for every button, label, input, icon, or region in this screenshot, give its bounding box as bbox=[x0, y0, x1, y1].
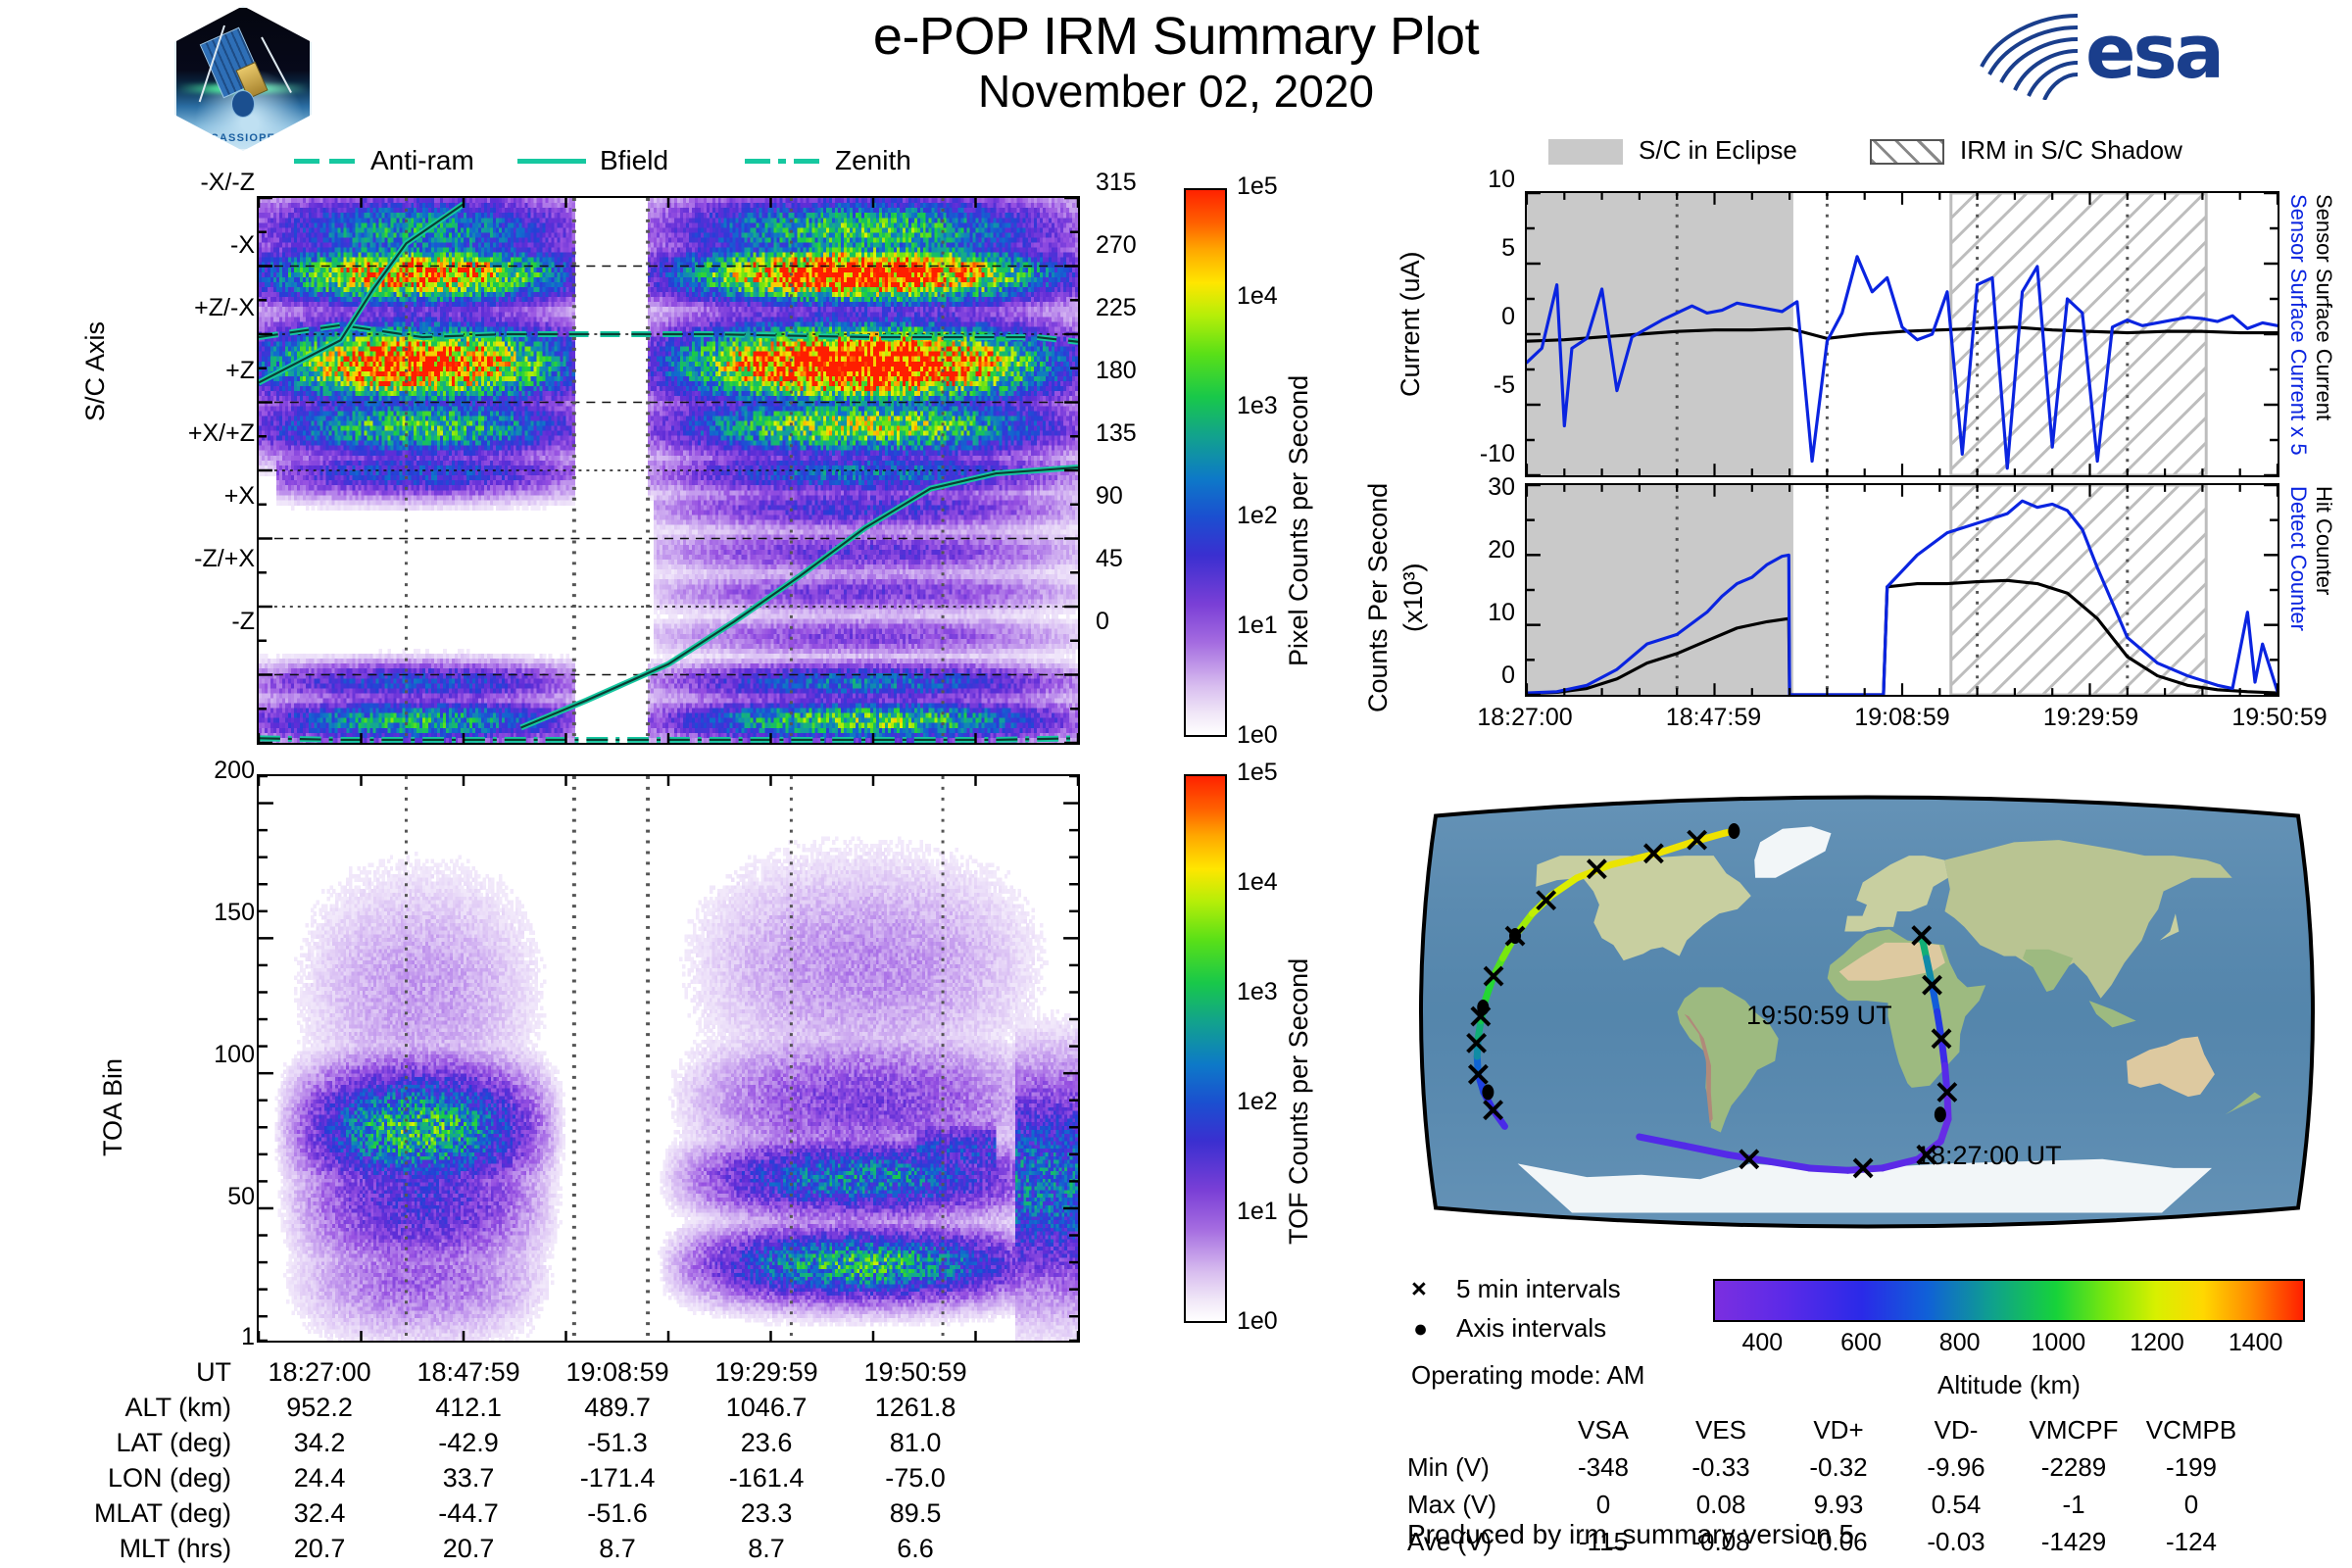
cb1-tick-1: 1e4 bbox=[1237, 282, 1278, 311]
voltage-cell: -1 bbox=[2015, 1486, 2132, 1523]
voltage-cell: 9.93 bbox=[1780, 1486, 1897, 1523]
sc-axis-tick-6: -Z/+X bbox=[194, 545, 255, 573]
map-start-time-label: 18:27:00 UT bbox=[1916, 1141, 2062, 1171]
toa-tick-4: 1 bbox=[241, 1323, 255, 1351]
time-tick-1: 18:47:59 bbox=[1666, 704, 1761, 732]
eph-cell: 23.3 bbox=[692, 1495, 841, 1531]
angle-tick-6: 45 bbox=[1096, 545, 1123, 573]
counts-plot bbox=[1527, 485, 2278, 695]
eph-row-label: UT bbox=[94, 1354, 245, 1390]
cb2-tick-3: 1e2 bbox=[1237, 1088, 1278, 1116]
voltage-cell: 0.08 bbox=[1662, 1486, 1780, 1523]
eph-cell: 8.7 bbox=[692, 1531, 841, 1566]
map-legend-label-axis: Axis intervals bbox=[1456, 1313, 1606, 1344]
table-row: Min (V)-348-0.33-0.32-9.96-2289-199 bbox=[1407, 1448, 2250, 1486]
cb2-tick-0: 1e5 bbox=[1237, 759, 1278, 787]
altitude-tick-0: 400 bbox=[1741, 1329, 1783, 1357]
eph-cell: 19:50:59 bbox=[841, 1354, 990, 1390]
voltage-header-row: VSAVESVD+VD-VMCPFVCMPB bbox=[1407, 1411, 2250, 1448]
voltage-col-header: VMCPF bbox=[2015, 1411, 2132, 1448]
legend-label-bfield: Bfield bbox=[600, 145, 668, 176]
legend-zenith-dash-2 bbox=[794, 159, 819, 164]
cur-tick-2: 0 bbox=[1501, 303, 1515, 331]
eph-cell: 18:27:00 bbox=[245, 1354, 394, 1390]
eph-row-label: ALT (km) bbox=[94, 1390, 245, 1425]
dot-marker-icon: ● bbox=[1413, 1315, 1428, 1344]
legend-bfield-line bbox=[517, 159, 586, 164]
current-plot bbox=[1527, 193, 2278, 475]
voltage-col-header: VD+ bbox=[1780, 1411, 1897, 1448]
eph-cell: 33.7 bbox=[394, 1460, 543, 1495]
cnt-tick-3: 0 bbox=[1501, 661, 1515, 690]
sc-axis-tick-5: +X bbox=[224, 482, 255, 511]
sc-axis-tick-3: +Z bbox=[225, 357, 255, 385]
table-row: UT18:27:0018:47:5919:08:5919:29:5919:50:… bbox=[94, 1354, 990, 1390]
pixel-counts-colorbar bbox=[1184, 188, 1227, 737]
altitude-colorbar-label: Altitude (km) bbox=[1713, 1370, 2305, 1400]
current-y2label-blue: Sensor Surface Current x 5 bbox=[2285, 194, 2311, 474]
eph-cell: 19:29:59 bbox=[692, 1354, 841, 1390]
cb2-tick-2: 1e3 bbox=[1237, 978, 1278, 1006]
eph-row-label: MLT (hrs) bbox=[94, 1531, 245, 1566]
cb1-tick-2: 1e3 bbox=[1237, 392, 1278, 420]
toa-spectrogram-image bbox=[259, 776, 1078, 1341]
angle-tick-5: 90 bbox=[1096, 482, 1123, 511]
altitude-tick-4: 1200 bbox=[2130, 1329, 2184, 1357]
csa-badge-icon bbox=[231, 90, 255, 118]
legend-zenith-dash bbox=[745, 159, 770, 164]
eclipse-legend-label: S/C in Eclipse bbox=[1639, 135, 1797, 166]
voltage-cell: -124 bbox=[2132, 1523, 2250, 1560]
shadow-legend: S/C in Eclipse IRM in S/C Shadow bbox=[1548, 137, 2352, 171]
voltage-col-header: VSA bbox=[1544, 1411, 1662, 1448]
sc-axis-tick-7: -Z bbox=[231, 608, 255, 636]
angle-tick-7: 0 bbox=[1096, 608, 1109, 636]
eph-cell: 18:47:59 bbox=[394, 1354, 543, 1390]
table-row: LAT (deg)34.2-42.9-51.323.681.0 bbox=[94, 1425, 990, 1460]
cur-tick-0: 10 bbox=[1488, 166, 1515, 194]
table-row: ALT (km)952.2412.1489.71046.71261.8 bbox=[94, 1390, 990, 1425]
eph-cell: -75.0 bbox=[841, 1460, 990, 1495]
eph-cell: 1046.7 bbox=[692, 1390, 841, 1425]
tof-counts-colorbar bbox=[1184, 774, 1227, 1323]
eph-cell: 489.7 bbox=[543, 1390, 692, 1425]
toa-y-ticklabels: 200 150 100 50 1 bbox=[137, 774, 255, 1333]
counts-ylabel: Counts Per Second (x10³) bbox=[1360, 475, 1396, 720]
eph-cell: 20.7 bbox=[394, 1531, 543, 1566]
eph-cell: 89.5 bbox=[841, 1495, 990, 1531]
sc-axis-tick-0: -X/-Z bbox=[200, 169, 255, 197]
map-end-time-label: 19:50:59 UT bbox=[1746, 1001, 1892, 1031]
voltage-col-header: VD- bbox=[1897, 1411, 2015, 1448]
current-y-ticklabels: 10 5 0 -5 -10 bbox=[1431, 181, 1515, 465]
pixel-counts-colorbar-label: Pixel Counts per Second bbox=[1284, 196, 1314, 666]
time-tick-2: 19:08:59 bbox=[1854, 704, 1949, 732]
current-y2label-black: Sensor Surface Current bbox=[2311, 194, 2336, 474]
toa-tick-0: 200 bbox=[214, 757, 255, 785]
spectrogram-panel[interactable] bbox=[257, 196, 1080, 745]
voltage-cell: -0.03 bbox=[1897, 1523, 2015, 1560]
cb1-tick-4: 1e1 bbox=[1237, 612, 1278, 640]
counts-panel[interactable] bbox=[1525, 483, 2279, 697]
eph-cell: 32.4 bbox=[245, 1495, 394, 1531]
angle-tick-3: 180 bbox=[1096, 357, 1137, 385]
time-tick-0: 18:27:00 bbox=[1477, 704, 1572, 732]
shadow-hatch-swatch-icon bbox=[1870, 139, 1944, 165]
eph-cell: -161.4 bbox=[692, 1460, 841, 1495]
cb2-tick-4: 1e1 bbox=[1237, 1198, 1278, 1226]
legend-antiram-dash-2 bbox=[329, 159, 355, 164]
voltage-cell: -9.96 bbox=[1897, 1448, 2015, 1486]
eph-cell: 19:08:59 bbox=[543, 1354, 692, 1390]
altitude-colorbar bbox=[1713, 1279, 2305, 1322]
cassiope-logo-label: CASSIOPE bbox=[176, 132, 310, 144]
voltage-col-header: VCMPB bbox=[2132, 1411, 2250, 1448]
voltage-cell: -2289 bbox=[2015, 1448, 2132, 1486]
spectrogram-y-ticklabels: -X/-Z -X +Z/-X +Z +X/+Z +X -Z/+X -Z bbox=[127, 186, 255, 715]
eph-cell: 8.7 bbox=[543, 1531, 692, 1566]
voltage-cell: -0.32 bbox=[1780, 1448, 1897, 1486]
cur-tick-4: -10 bbox=[1480, 440, 1515, 468]
cur-tick-3: -5 bbox=[1494, 371, 1515, 400]
angle-tick-2: 225 bbox=[1096, 294, 1137, 322]
altitude-colorbar-ticks: 400600800100012001400 bbox=[1713, 1329, 2305, 1362]
table-row: MLT (hrs)20.720.78.78.76.6 bbox=[94, 1531, 990, 1566]
angle-tick-0: 315 bbox=[1096, 169, 1137, 197]
eph-cell: -51.3 bbox=[543, 1425, 692, 1460]
altitude-tick-1: 600 bbox=[1840, 1329, 1882, 1357]
sc-axis-tick-1: -X bbox=[230, 231, 255, 260]
altitude-tick-5: 1400 bbox=[2229, 1329, 2283, 1357]
eph-cell: -44.7 bbox=[394, 1495, 543, 1531]
legend-zenith-dot bbox=[778, 159, 786, 164]
spectrogram-ylabel: S/C Axis bbox=[80, 245, 111, 421]
eph-cell: 1261.8 bbox=[841, 1390, 990, 1425]
eph-row-label: LAT (deg) bbox=[94, 1425, 245, 1460]
cnt-tick-2: 10 bbox=[1488, 599, 1515, 627]
legend-antiram-dash-1 bbox=[294, 159, 319, 164]
voltage-cell: -0.33 bbox=[1662, 1448, 1780, 1486]
eph-cell: 20.7 bbox=[245, 1531, 394, 1566]
eph-row-label: MLAT (deg) bbox=[94, 1495, 245, 1531]
voltage-cell: 0 bbox=[1544, 1486, 1662, 1523]
toa-tick-3: 50 bbox=[227, 1183, 255, 1211]
cb1-tick-0: 1e5 bbox=[1237, 172, 1278, 201]
voltage-col-header: VES bbox=[1662, 1411, 1780, 1448]
toa-tick-2: 100 bbox=[214, 1041, 255, 1069]
cb1-tick-5: 1e0 bbox=[1237, 721, 1278, 750]
eph-cell: 412.1 bbox=[394, 1390, 543, 1425]
eph-cell: 23.6 bbox=[692, 1425, 841, 1460]
sc-axis-tick-4: +X/+Z bbox=[188, 419, 255, 448]
voltage-row-label: Max (V) bbox=[1407, 1486, 1544, 1523]
toa-tick-1: 150 bbox=[214, 899, 255, 927]
cnt-tick-1: 20 bbox=[1488, 536, 1515, 564]
footer-credit: Produced by irm_summary version 5 bbox=[1407, 1519, 1854, 1550]
eph-cell: -171.4 bbox=[543, 1460, 692, 1495]
eclipse-swatch-icon bbox=[1548, 139, 1623, 165]
time-tick-3: 19:29:59 bbox=[2043, 704, 2138, 732]
current-panel[interactable] bbox=[1525, 191, 2279, 477]
altitude-tick-2: 800 bbox=[1939, 1329, 1981, 1357]
table-row: MLAT (deg)32.4-44.7-51.623.389.5 bbox=[94, 1495, 990, 1531]
operating-mode-label: Operating mode: AM bbox=[1411, 1360, 1644, 1391]
toa-ylabel: TOA Bin bbox=[98, 1000, 128, 1156]
voltage-col-header bbox=[1407, 1411, 1544, 1448]
time-tick-4: 19:50:59 bbox=[2231, 704, 2327, 732]
table-row: Max (V)00.089.930.54-10 bbox=[1407, 1486, 2250, 1523]
tof-counts-colorbar-label: TOF Counts per Second bbox=[1284, 784, 1314, 1245]
esa-wordmark: esa bbox=[2085, 8, 2222, 95]
eph-row-label: LON (deg) bbox=[94, 1460, 245, 1495]
voltage-cell: -1429 bbox=[2015, 1523, 2132, 1560]
counts-y2label-blue: Detect Counter bbox=[2285, 486, 2311, 694]
spectrogram-y2-ticklabels: 315 270 225 180 135 90 45 0 bbox=[1096, 186, 1184, 715]
voltage-cell: -199 bbox=[2132, 1448, 2250, 1486]
eph-cell: -42.9 bbox=[394, 1425, 543, 1460]
cb2-tick-1: 1e4 bbox=[1237, 868, 1278, 897]
esa-logo: esa bbox=[1980, 6, 2323, 104]
angle-tick-4: 135 bbox=[1096, 419, 1137, 448]
legend-label-antiram: Anti-ram bbox=[370, 145, 474, 176]
spectrogram-overlay-legend: Anti-ram Bfield Zenith bbox=[294, 145, 980, 174]
eph-cell: 952.2 bbox=[245, 1390, 394, 1425]
voltage-cell: 0.54 bbox=[1897, 1486, 2015, 1523]
eph-cell: 34.2 bbox=[245, 1425, 394, 1460]
eph-cell: 24.4 bbox=[245, 1460, 394, 1495]
cb2-tick-5: 1e0 bbox=[1237, 1307, 1278, 1336]
eph-cell: 6.6 bbox=[841, 1531, 990, 1566]
legend-label-zenith: Zenith bbox=[835, 145, 911, 176]
cur-tick-1: 5 bbox=[1501, 234, 1515, 263]
voltage-cell: 0 bbox=[2132, 1486, 2250, 1523]
sc-axis-tick-2: +Z/-X bbox=[194, 294, 255, 322]
spectrogram-image bbox=[259, 198, 1078, 743]
cross-marker-icon: × bbox=[1411, 1274, 1427, 1304]
right-time-axis: 18:27:0018:47:5919:08:5919:29:5919:50:59 bbox=[1525, 704, 2279, 739]
counts-y-ticklabels: 30 20 10 0 bbox=[1431, 475, 1515, 720]
cassiope-mission-logo: CASSIOPE bbox=[174, 6, 312, 151]
eph-cell: -51.6 bbox=[543, 1495, 692, 1531]
table-row: LON (deg)24.433.7-171.4-161.4-75.0 bbox=[94, 1460, 990, 1495]
ephemeris-table: UT18:27:0018:47:5919:08:5919:29:5919:50:… bbox=[94, 1354, 990, 1566]
eph-cell: 81.0 bbox=[841, 1425, 990, 1460]
esa-swirl-icon bbox=[1980, 10, 2082, 100]
cb1-tick-3: 1e2 bbox=[1237, 502, 1278, 530]
counts-y2label-black: Hit Counter bbox=[2311, 486, 2336, 694]
voltage-cell: -348 bbox=[1544, 1448, 1662, 1486]
toa-panel[interactable] bbox=[257, 774, 1080, 1343]
altitude-tick-3: 1000 bbox=[2032, 1329, 2086, 1357]
shadow-legend-label: IRM in S/C Shadow bbox=[1960, 135, 2182, 166]
current-ylabel: Current (uA) bbox=[1396, 201, 1426, 397]
cnt-tick-0: 30 bbox=[1488, 473, 1515, 502]
angle-tick-1: 270 bbox=[1096, 231, 1137, 260]
voltage-row-label: Min (V) bbox=[1407, 1448, 1544, 1486]
map-legend-label-5min: 5 min intervals bbox=[1456, 1274, 1621, 1304]
